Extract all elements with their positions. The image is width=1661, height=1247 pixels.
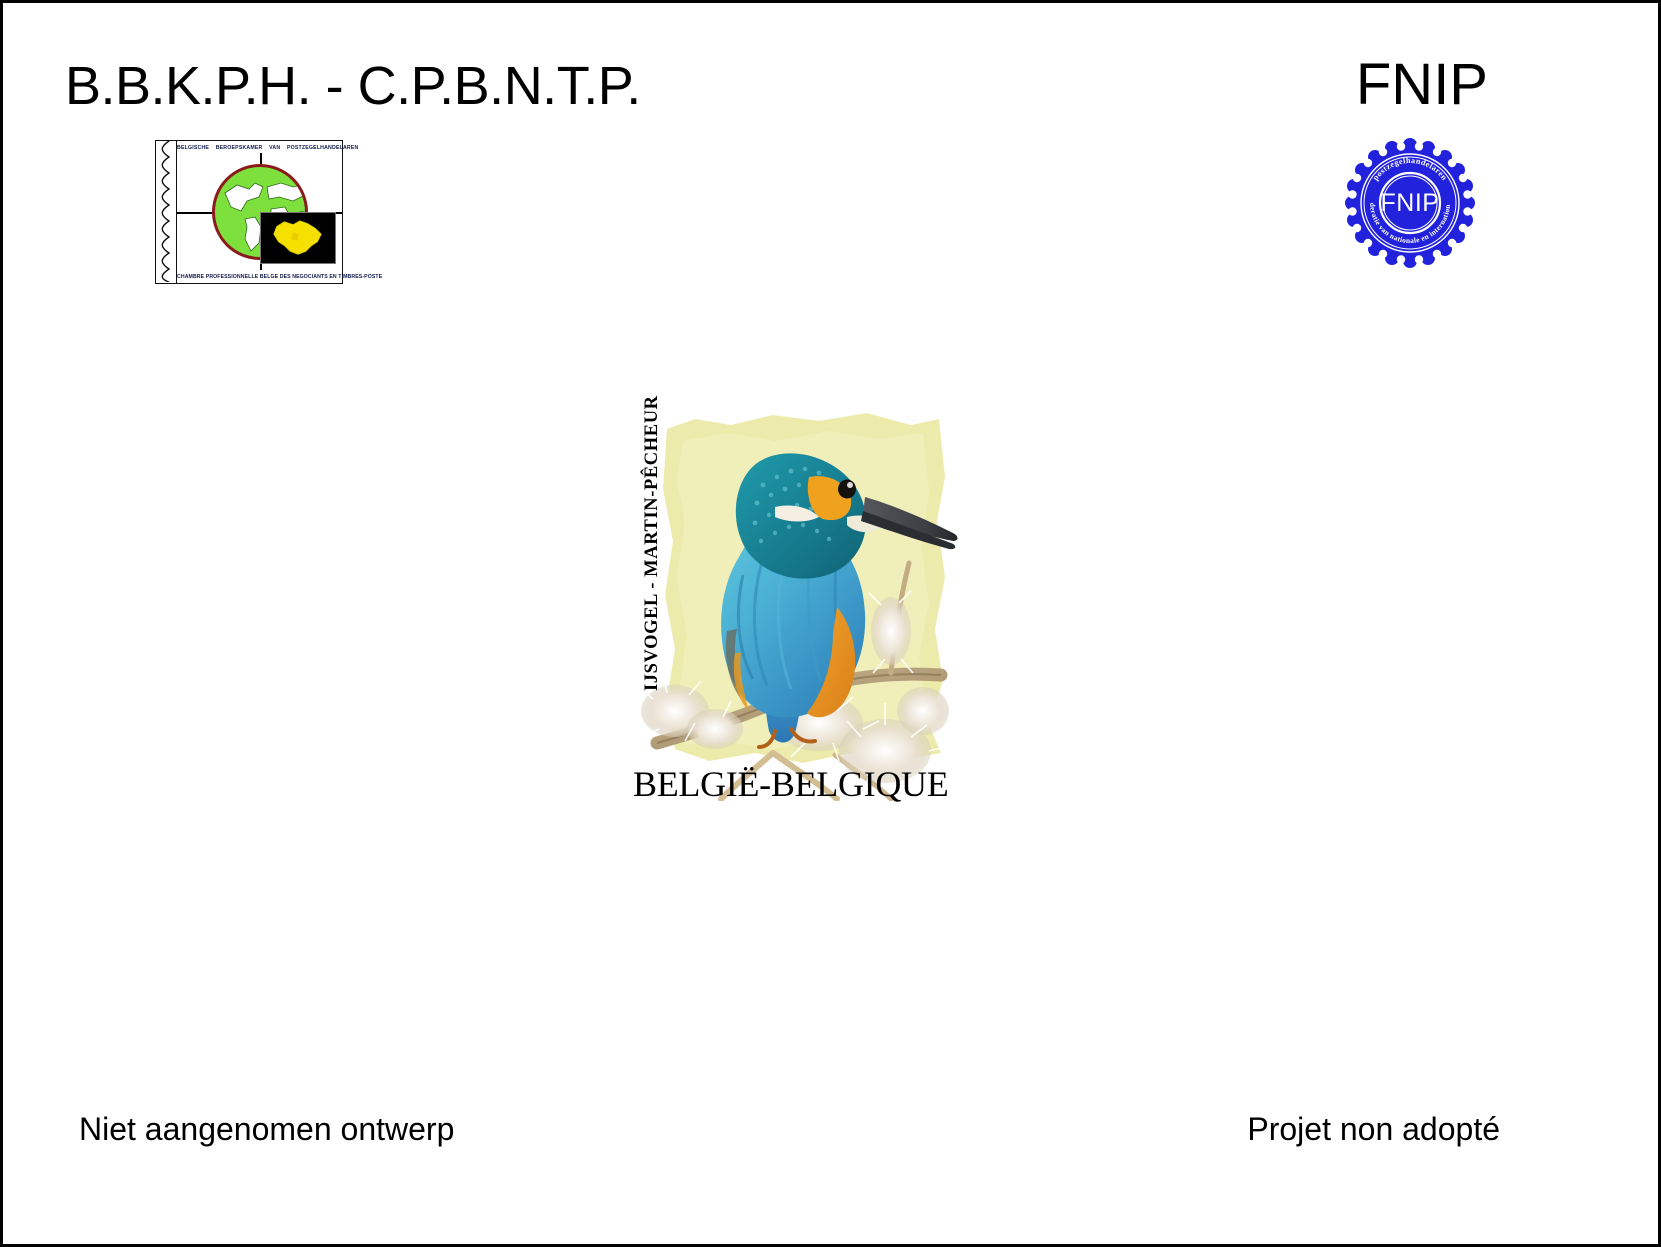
fnip-seal-icon: postzegelhandelaren Federatie van nation… (1344, 137, 1476, 269)
bbkph-bottom-text: CHAMBRE PROFESSIONNELLE BELGE DES NEGOCI… (177, 274, 342, 280)
stamp-country-label: BELGIË-BELGIQUE (633, 763, 948, 805)
bbkph-top-text: BELGISCHE BEROEPSKAMER VAN POSTZEGELHAND… (177, 145, 342, 151)
fnip-heading: FNIP (1356, 51, 1488, 118)
svg-text:FNIP: FNIP (1381, 189, 1440, 217)
kingfisher-illustration (623, 381, 963, 801)
stamp-perforation-edge (156, 141, 176, 283)
bbkph-logo-inner: BELGISCHE BEROEPSKAMER VAN POSTZEGELHAND… (176, 141, 342, 283)
footer-french-note: Projet non adopté (1247, 1111, 1500, 1148)
kingfisher-stamp-design: IJSVOGEL - MARTIN-PÊCHEUR BELGIË-BELGIQU… (623, 381, 963, 801)
footer-dutch-note: Niet aangenomen ontwerp (79, 1111, 454, 1148)
page-title: B.B.K.P.H. - C.P.B.N.T.P. (65, 55, 641, 117)
bbkph-logo: BELGISCHE BEROEPSKAMER VAN POSTZEGELHAND… (155, 140, 343, 284)
belgium-map-inset (260, 212, 336, 264)
stamp-species-label: IJSVOGEL - MARTIN-PÊCHEUR (637, 421, 663, 691)
document-page: B.B.K.P.H. - C.P.B.N.T.P. FNIP BELGISCHE… (0, 0, 1661, 1247)
bbkph-globe-graphic (177, 153, 342, 270)
